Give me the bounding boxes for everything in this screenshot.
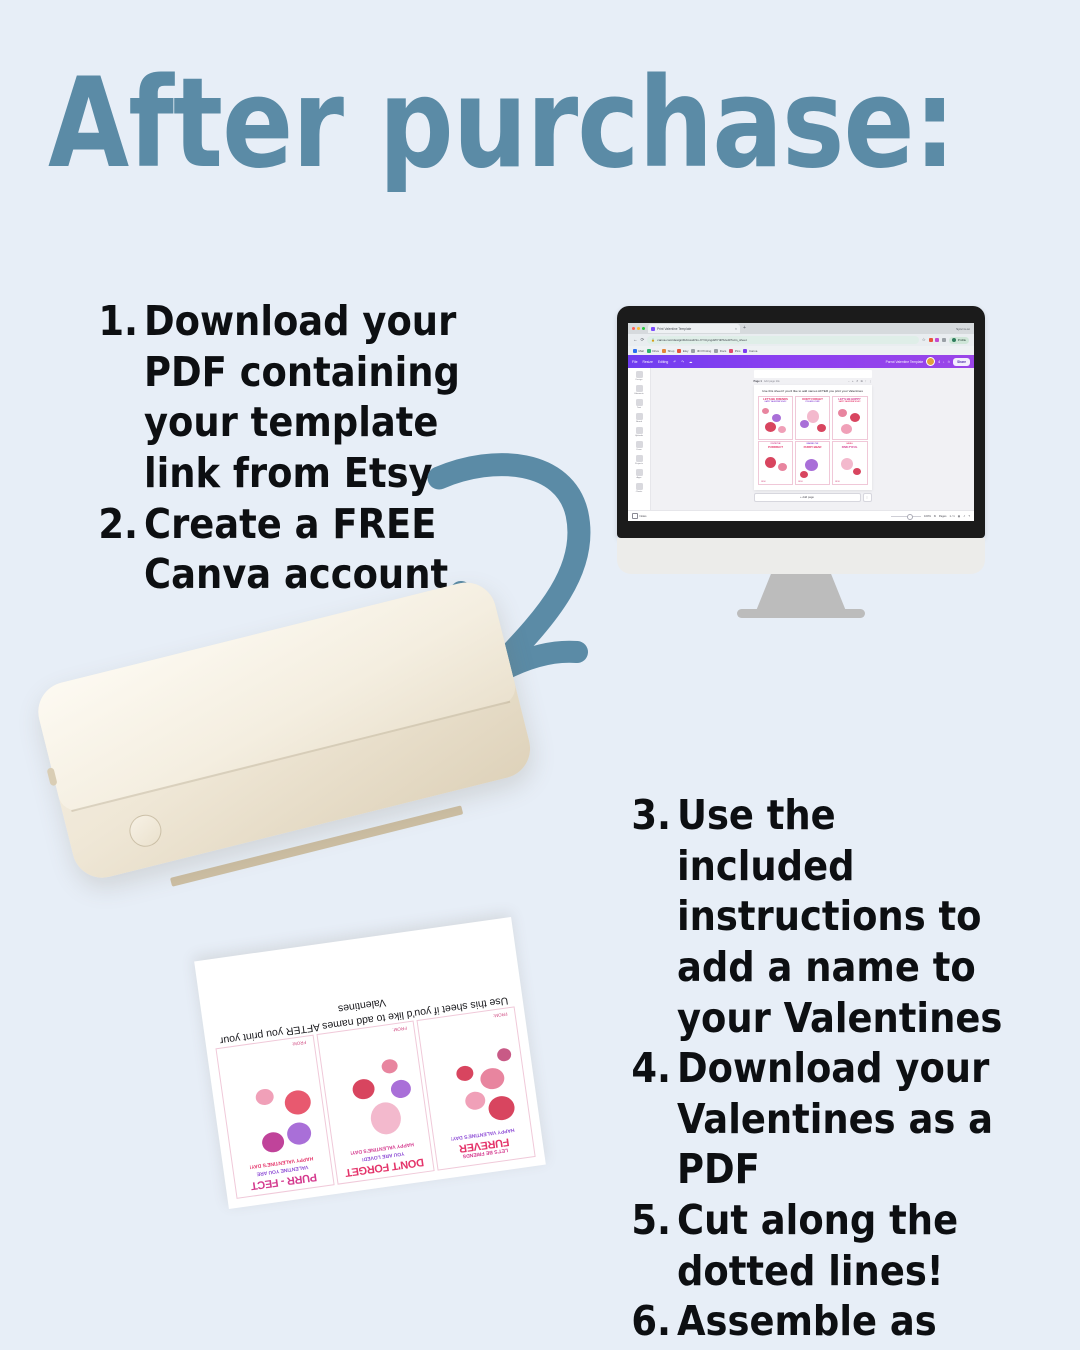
canva-menu-resize[interactable]: Resize xyxy=(642,360,652,364)
sidebar-item-apps[interactable]: Apps xyxy=(636,469,643,479)
close-window-icon[interactable] xyxy=(632,327,635,330)
undo-icon[interactable]: ↶ xyxy=(673,360,676,364)
zoom-in-icon[interactable]: + xyxy=(852,380,854,383)
poster-canvas: After purchase: 1. Download your PDF con… xyxy=(0,0,1080,1350)
url-input[interactable]: 🔒 canva.com/design/DAGxwbSx-XY/UyngdWY4P… xyxy=(647,336,918,344)
bookmark-item[interactable]: Mail xyxy=(633,349,644,353)
browser-tab[interactable]: Print Valentine Template × xyxy=(648,324,740,333)
page-label: Page 1 xyxy=(754,380,762,383)
bookmark-label: Mail xyxy=(639,349,644,353)
card-artwork xyxy=(422,1016,527,1138)
canva-toolbar: File Resize Editing ↶ ↷ ☁ Parrot Valenti… xyxy=(628,355,974,368)
back-icon[interactable]: ← xyxy=(633,338,638,343)
canva-status-bar: Notes 100% ⧉ Pages 1 / 1 ▦ ↗ ? xyxy=(628,510,974,521)
list-item-number: 5. xyxy=(625,1195,671,1246)
pages-label: Pages xyxy=(939,515,947,518)
browser-url-bar: ← ⟳ 🔒 canva.com/design/DAGxwbSx-XY/Uyngd… xyxy=(628,334,974,346)
notes-button[interactable]: Notes xyxy=(632,513,647,519)
canva-sidebar: Design Elements Text Brand Uploads Draw … xyxy=(628,368,651,510)
valentine-card[interactable]: HAVE A PAW-TYFUL FROM: xyxy=(832,441,868,485)
card-artwork xyxy=(221,1044,326,1166)
profile-label: Profile xyxy=(958,338,966,342)
share-button[interactable]: Share xyxy=(953,358,970,366)
brand-icon xyxy=(636,413,643,420)
design-caption: Use this sheet if you'd like to add name… xyxy=(758,389,868,393)
charts-icon xyxy=(636,483,643,490)
pages-count: 1 / 1 xyxy=(949,515,954,518)
desktop-monitor: Print Valentine Template × + Sync is on … xyxy=(617,306,985,624)
page-title: After purchase: xyxy=(48,62,955,186)
list-item: 1. Download your PDF containing your tem… xyxy=(92,296,464,499)
browser-window-label: Sync is on xyxy=(956,327,970,331)
bookmark-item[interactable]: Docs xyxy=(714,349,726,353)
canva-canvas-area: Page 1 Add page title − + ↺ ⧉ ↑ ⋮ xyxy=(651,368,974,510)
list-item-number: 1. xyxy=(92,296,138,347)
browser-bookmarks-bar: Mail Drive Shop Etsy 3D Printing Docs Pi… xyxy=(628,346,974,355)
bookmark-star-icon[interactable]: ☆ xyxy=(922,338,926,343)
canva-menu-file[interactable]: File xyxy=(632,360,637,364)
printed-sheet: LET'S BE FRIENDS FUREVER HAPPY VALENTINE… xyxy=(194,917,546,1209)
bookmark-item[interactable]: 3D Printing xyxy=(691,349,711,353)
apps-icon xyxy=(636,469,643,476)
bookmark-item[interactable]: Canva xyxy=(743,349,757,353)
delete-page-icon[interactable]: ↑ xyxy=(865,380,866,383)
sidebar-item-label: Draw xyxy=(636,449,641,451)
valentine-card[interactable]: LET'S BE HOPPY HAPPY VALENTINE'S DAY! xyxy=(832,396,868,440)
printer-lid xyxy=(32,576,519,814)
download-icon[interactable]: ↓ xyxy=(943,360,945,364)
printed-card: LET'S BE FRIENDS FUREVER HAPPY VALENTINE… xyxy=(417,1006,536,1170)
fullscreen-icon[interactable]: ↗ xyxy=(963,514,965,518)
page-tools[interactable]: − + ↺ ⧉ ↑ ⋮ xyxy=(848,380,871,383)
valentine-card-grid: LET'S BE FRIENDS HAPPY VALENTINE'S DAY! xyxy=(758,396,868,485)
canva-body: Design Elements Text Brand Uploads Draw … xyxy=(628,368,974,510)
profile-button[interactable]: Profile xyxy=(949,337,969,344)
lock-icon: 🔒 xyxy=(651,338,655,342)
card-artwork xyxy=(834,449,866,482)
sidebar-item-label: Brand xyxy=(636,421,642,423)
url-text: canva.com/design/DAGxwbSx-XY/UyngdWY4PK/… xyxy=(657,338,746,342)
document-title[interactable]: Parrot Valentine Template xyxy=(886,360,924,364)
canva-toolbar-right: Parrot Valentine Template 4 ↓ ⏱ Share xyxy=(886,357,970,366)
steps-list-right: 3. Use the included instructions to add … xyxy=(625,790,1025,1350)
sidebar-item-label: Projects xyxy=(635,463,643,465)
card-artwork xyxy=(797,404,829,438)
monitor-screen: Print Valentine Template × + Sync is on … xyxy=(628,323,974,521)
sidebar-item-brand[interactable]: Brand xyxy=(636,413,643,423)
canva-menu-editing[interactable]: Editing xyxy=(658,360,668,364)
bookmark-label: Shop xyxy=(668,349,675,353)
sidebar-item-label: Charts xyxy=(636,491,642,493)
bookmark-label: Docs xyxy=(720,349,727,353)
monitor-stand-foot xyxy=(737,609,865,618)
sidebar-item-design[interactable]: Design xyxy=(636,371,643,381)
list-item-number: 6. xyxy=(625,1296,671,1347)
bookmark-label: Pins xyxy=(735,349,741,353)
list-item-number: 3. xyxy=(625,790,671,841)
window-controls[interactable] xyxy=(632,327,645,330)
text-icon xyxy=(636,399,643,406)
sidebar-item-projects[interactable]: Projects xyxy=(635,455,643,465)
lock-page-icon[interactable]: ↺ xyxy=(856,380,858,383)
draw-icon xyxy=(636,441,643,448)
minimize-window-icon[interactable] xyxy=(637,327,640,330)
list-item: 4. Download your Valentines as a PDF xyxy=(625,1043,1025,1195)
avatar[interactable] xyxy=(926,357,935,366)
steps-list-left: 1. Download your PDF containing your tem… xyxy=(92,296,464,600)
page-header: Page 1 Add page title − + ↺ ⧉ ↑ ⋮ xyxy=(754,380,872,383)
list-item-label: Use the included instructions to add a n… xyxy=(677,790,1025,1043)
duplicate-page-icon[interactable]: ⧉ xyxy=(861,380,863,383)
avatar xyxy=(952,338,956,342)
list-item-label: Cut along the dotted lines! xyxy=(677,1195,1025,1296)
projects-icon xyxy=(636,455,643,462)
sidebar-item-elements[interactable]: Elements xyxy=(634,385,643,395)
sidebar-item-text[interactable]: Text xyxy=(636,399,643,409)
extensions-tray[interactable] xyxy=(929,338,946,342)
more-options-icon[interactable]: ⋮ xyxy=(869,380,872,383)
power-button-icon[interactable] xyxy=(126,811,165,850)
zoom-slider-knob[interactable] xyxy=(907,514,913,520)
valentine-card[interactable]: LET'S BE FRIENDS HAPPY VALENTINE'S DAY! xyxy=(758,396,794,440)
list-item: 6. Assemble as desired xyxy=(625,1296,1025,1350)
printed-card: PURR - FECT VALENTINE YOU ARE HAPPY VALE… xyxy=(215,1035,334,1199)
sidebar-item-draw[interactable]: Draw xyxy=(636,441,643,451)
card-artwork xyxy=(760,449,792,482)
sidebar-item-charts[interactable]: Charts xyxy=(636,483,643,493)
bookmark-item[interactable]: Shop xyxy=(662,349,674,353)
list-item-label: Download your Valentines as a PDF xyxy=(677,1043,1025,1195)
browser-tab-bar: Print Valentine Template × + Sync is on xyxy=(628,323,974,334)
card-artwork xyxy=(321,1030,426,1152)
monitor-chin xyxy=(617,538,985,574)
clock-icon[interactable]: ⏱ xyxy=(948,360,951,364)
extension-icon[interactable] xyxy=(929,338,933,342)
status-bar-right: 100% ⧉ Pages 1 / 1 ▦ ↗ ? xyxy=(891,514,970,518)
elements-icon xyxy=(636,385,643,392)
valentine-card[interactable]: YOU'RE THE PURRFECT FROM: xyxy=(758,441,794,485)
collaborator-count: 4 xyxy=(938,360,940,364)
bookmark-item[interactable]: Pins xyxy=(729,349,740,353)
card-from-label: FROM: xyxy=(835,482,840,483)
sidebar-item-label: Text xyxy=(637,407,641,409)
zoom-slider[interactable] xyxy=(891,516,921,517)
design-page[interactable]: Use this sheet if you'd like to add name… xyxy=(754,385,872,491)
notes-label: Notes xyxy=(640,515,647,518)
card-artwork xyxy=(797,449,829,482)
reload-icon[interactable]: ⟳ xyxy=(641,338,645,343)
card-artwork xyxy=(834,404,866,438)
sidebar-item-label: Apps xyxy=(637,477,642,479)
add-page-button[interactable]: + Add page xyxy=(754,493,861,502)
sidebar-item-label: Design xyxy=(636,379,643,381)
list-item: 5. Cut along the dotted lines! xyxy=(625,1195,1025,1296)
card-from-label: FROM: xyxy=(798,482,803,483)
notes-icon xyxy=(632,513,638,519)
canva-favicon-icon xyxy=(651,327,655,331)
bookmark-label: Etsy xyxy=(683,349,689,353)
previous-page-preview xyxy=(754,370,872,378)
zoom-level: 100% xyxy=(924,515,931,518)
card-from-label: FROM: xyxy=(761,482,766,483)
sidebar-item-label: Elements xyxy=(634,393,643,395)
bookmark-label: 3D Printing xyxy=(697,349,711,353)
maximize-window-icon[interactable] xyxy=(642,327,645,330)
list-item-label: Create a FREE Canva account xyxy=(144,499,464,600)
add-page-more-icon[interactable]: ⋮ xyxy=(863,493,872,502)
sidebar-item-label: Uploads xyxy=(635,435,643,437)
printed-card: DON'T FORGET YOU ARE LOVED! HAPPY VALENT… xyxy=(316,1020,435,1184)
card-artwork xyxy=(760,404,792,438)
list-item: 2. Create a FREE Canva account xyxy=(92,499,464,600)
bookmark-item[interactable]: Drive xyxy=(647,349,659,353)
extension-icon[interactable] xyxy=(935,338,939,342)
new-tab-icon[interactable]: + xyxy=(743,326,746,331)
monitor-bezel: Print Valentine Template × + Sync is on … xyxy=(617,306,985,538)
valentine-card[interactable]: BEARING THE FURRY BEAR FROM: xyxy=(795,441,831,485)
portable-printer xyxy=(32,576,536,884)
list-item-label: Assemble as desired xyxy=(677,1296,1025,1350)
cloud-save-icon[interactable]: ☁ xyxy=(689,360,692,364)
extension-icon[interactable] xyxy=(942,338,946,342)
bookmark-label: Drive xyxy=(652,349,659,353)
design-icon xyxy=(636,371,643,378)
close-tab-icon[interactable]: × xyxy=(735,327,737,331)
bookmark-item[interactable]: Etsy xyxy=(677,349,688,353)
list-item-number: 4. xyxy=(625,1043,671,1094)
list-item: 3. Use the included instructions to add … xyxy=(625,790,1025,1043)
list-item-number: 2. xyxy=(92,499,138,550)
pages-icon[interactable]: ⧉ xyxy=(934,515,936,518)
redo-icon[interactable]: ↷ xyxy=(681,360,684,364)
page-title-input[interactable]: Add page title xyxy=(764,380,780,383)
help-icon[interactable]: ? xyxy=(969,515,971,518)
browser-tab-title: Print Valentine Template xyxy=(657,327,691,331)
sidebar-item-uploads[interactable]: Uploads xyxy=(635,427,643,437)
zoom-out-icon[interactable]: − xyxy=(848,380,850,383)
bookmark-label: Canva xyxy=(749,349,757,353)
printer-scene: LET'S BE FRIENDS FUREVER HAPPY VALENTINE… xyxy=(20,680,580,1240)
grid-view-icon[interactable]: ▦ xyxy=(958,514,961,518)
add-page-row: + Add page ⋮ xyxy=(754,493,872,502)
uploads-icon xyxy=(636,427,643,434)
canva-app: File Resize Editing ↶ ↷ ☁ Parrot Valenti… xyxy=(628,355,974,521)
list-item-label: Download your PDF containing your templa… xyxy=(144,296,464,499)
valentine-card[interactable]: DON'T FORGET YOU ARE LOVED! xyxy=(795,396,831,440)
